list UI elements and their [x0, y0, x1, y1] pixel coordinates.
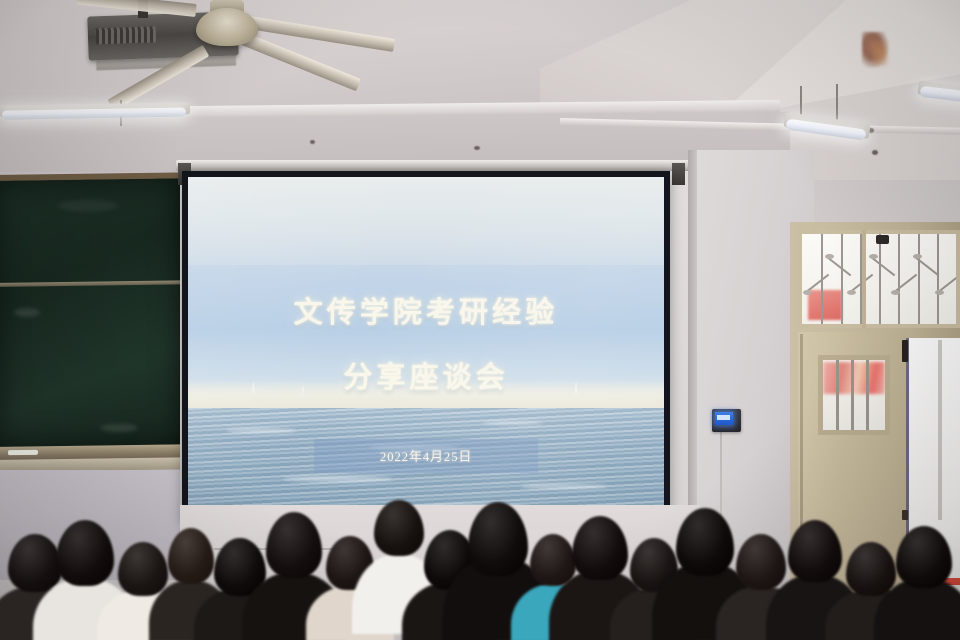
ceiling-mark	[310, 140, 315, 144]
ceiling-mark	[474, 146, 480, 150]
door-window	[818, 355, 890, 435]
corridor-floor	[906, 585, 960, 640]
door-window-bar	[836, 360, 839, 430]
light-cord	[836, 84, 838, 124]
corridor-post	[938, 340, 942, 520]
slide-sky-upper-band	[188, 177, 664, 265]
chalk-smudge	[14, 308, 40, 317]
audience-member-shoulders	[97, 590, 189, 640]
slide-title-line-2: 分享座谈会	[188, 354, 664, 396]
audience-member-shoulders	[0, 586, 83, 640]
slide-date: 2022年4月25日	[283, 446, 569, 465]
grill-bar	[841, 234, 843, 324]
card-reader-lcd-icon	[715, 412, 733, 425]
grill-joint	[869, 254, 878, 259]
wall-below-blackboard	[0, 470, 185, 580]
grill-joint	[803, 290, 812, 295]
grill-bar	[918, 234, 920, 324]
chalk-smudge	[58, 200, 118, 212]
grill-joint	[847, 290, 856, 295]
door-stile	[800, 334, 803, 638]
grill-joint	[891, 290, 900, 295]
transom-window	[798, 230, 960, 328]
door-hinge-icon	[902, 510, 908, 520]
slide-title-line-1: 文传学院考研经验	[188, 289, 664, 331]
wall-mark	[196, 542, 201, 547]
door-louver-vent	[818, 596, 888, 630]
transom-mullion	[862, 230, 866, 328]
door-hinge-icon	[902, 340, 908, 362]
projector-vent	[96, 26, 157, 44]
projection-screen[interactable]: 文传学院考研经验 分享座谈会 2022年4月25日	[188, 177, 664, 517]
grill-joint	[825, 254, 834, 259]
chalk-icon	[8, 450, 38, 455]
ceiling-fan-icon	[196, 8, 258, 46]
audience-member-shoulders	[33, 578, 137, 640]
screen-bracket-right	[672, 163, 685, 185]
chalk-smudge	[100, 424, 138, 432]
water-stain-core	[872, 40, 888, 66]
poster-through-door-window	[823, 362, 885, 394]
poster-through-window	[808, 290, 842, 320]
screen-roller-housing	[176, 160, 696, 171]
ceiling-mark	[872, 150, 878, 155]
grill-bar	[898, 234, 900, 324]
door-window-bar	[851, 360, 854, 430]
panel-cable	[720, 431, 722, 580]
grill-joint	[913, 254, 922, 259]
transom-latch-icon	[876, 235, 889, 244]
grill-bar	[937, 234, 939, 324]
wall-below-screen	[180, 505, 700, 640]
door-window-bar	[866, 360, 869, 430]
grill-diagonal	[826, 256, 851, 276]
wall-seam	[214, 548, 364, 550]
grill-joint	[935, 290, 944, 295]
grill-diagonal	[870, 256, 895, 276]
grill-bar	[879, 234, 881, 324]
classroom-photo: 文传学院考研经验 分享座谈会 2022年4月25日	[0, 0, 960, 640]
